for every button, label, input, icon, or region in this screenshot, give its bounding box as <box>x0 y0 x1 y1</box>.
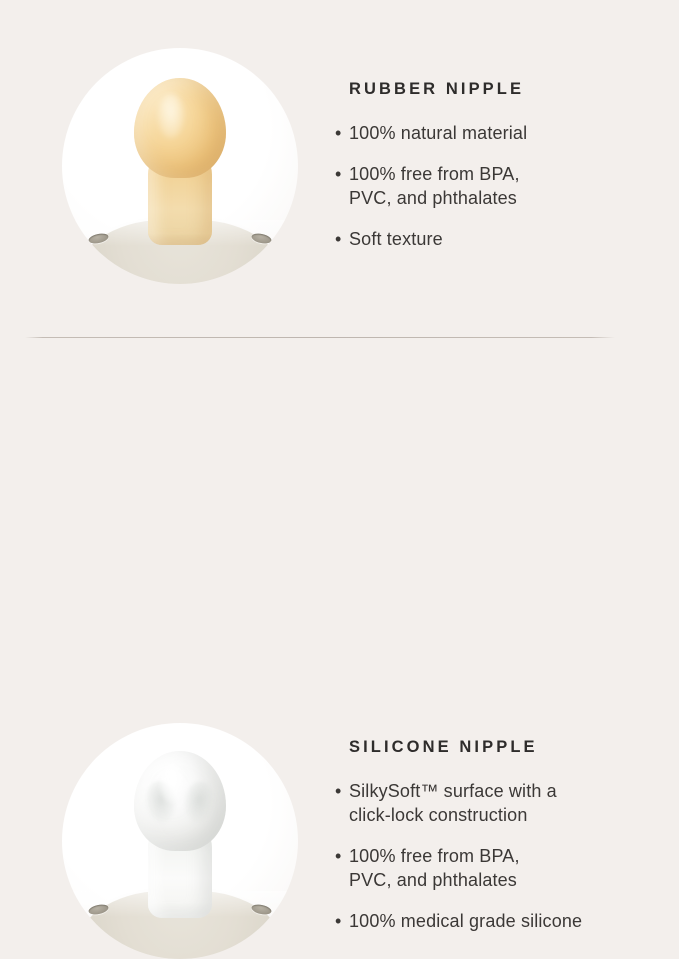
bullet-icon: • <box>335 779 341 803</box>
bullet-icon: • <box>335 909 341 933</box>
heading-silicone-nipple: SILICONE NIPPLE <box>349 738 655 757</box>
photo-contents-silicone <box>62 723 298 959</box>
section-rubber-nipple: RUBBER NIPPLE • 100% natural material • … <box>0 0 679 337</box>
feature-text: 100% free from BPA, PVC, and phthalates <box>349 846 520 890</box>
product-photo-rubber-nipple <box>62 48 298 284</box>
product-photo-silicone-nipple <box>62 723 298 959</box>
copy-block-silicone: SILICONE NIPPLE • SilkySoft™ surface wit… <box>335 738 655 933</box>
heading-rubber-nipple: RUBBER NIPPLE <box>349 80 655 99</box>
nipple-rubber <box>134 78 226 238</box>
list-item: • Soft texture <box>335 227 655 251</box>
list-item: • 100% medical grade silicone <box>335 909 655 933</box>
nipple-dimple-right <box>181 779 217 825</box>
section-silicone-nipple: SILICONE NIPPLE • SilkySoft™ surface wit… <box>0 338 679 680</box>
list-item: • 100% natural material <box>335 121 655 145</box>
feature-list-silicone: • SilkySoft™ surface with a click-lock c… <box>335 779 655 933</box>
feature-text: 100% natural material <box>349 123 527 143</box>
bullet-icon: • <box>335 844 341 868</box>
list-item: • 100% free from BPA, PVC, and phthalate… <box>335 162 655 210</box>
nipple-highlight-rubber <box>158 94 184 138</box>
list-item: • 100% free from BPA, PVC, and phthalate… <box>335 844 655 892</box>
feature-text: 100% medical grade silicone <box>349 911 582 931</box>
feature-text: 100% free from BPA, PVC, and phthalates <box>349 164 520 208</box>
nipple-bulb-silicone <box>134 751 226 851</box>
nipple-silicone <box>134 751 226 911</box>
bullet-icon: • <box>335 121 341 145</box>
photo-contents-rubber <box>62 48 298 284</box>
feature-text: Soft texture <box>349 229 443 249</box>
list-item: • SilkySoft™ surface with a click-lock c… <box>335 779 655 827</box>
bullet-icon: • <box>335 227 341 251</box>
nipple-highlight-silicone <box>160 763 184 803</box>
bullet-icon: • <box>335 162 341 186</box>
copy-block-rubber: RUBBER NIPPLE • 100% natural material • … <box>335 80 655 251</box>
product-comparison-page: RUBBER NIPPLE • 100% natural material • … <box>0 0 679 680</box>
feature-list-rubber: • 100% natural material • 100% free from… <box>335 121 655 251</box>
nipple-bulb-rubber <box>134 78 226 178</box>
feature-text: SilkySoft™ surface with a click-lock con… <box>349 781 557 825</box>
